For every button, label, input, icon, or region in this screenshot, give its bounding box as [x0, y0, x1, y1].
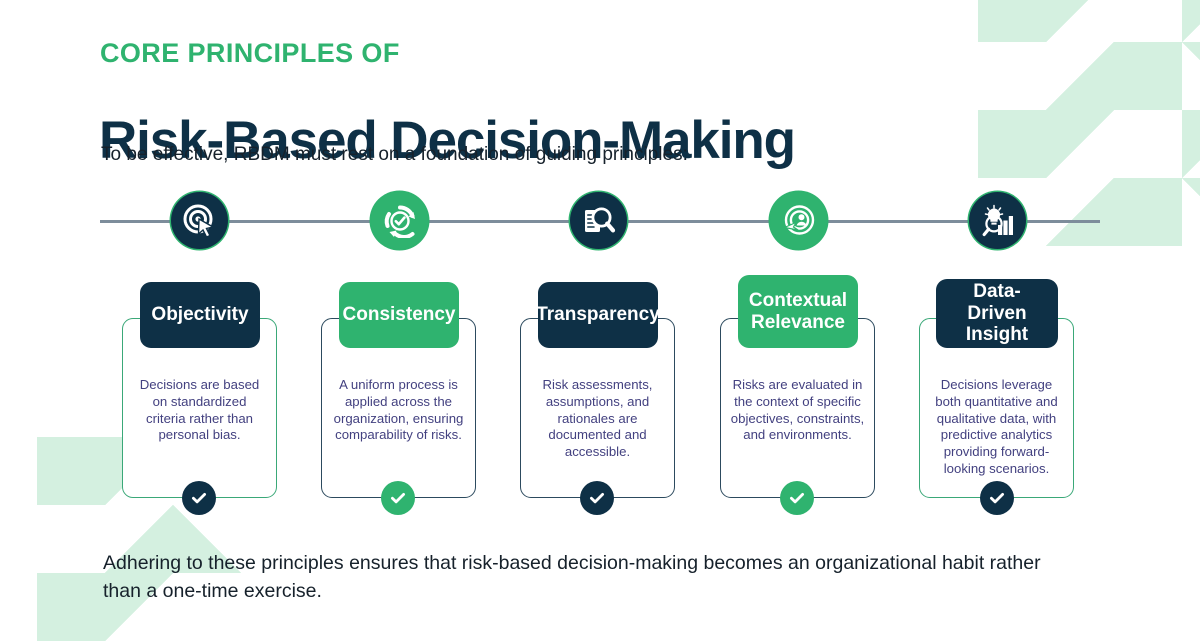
card-check-badge-contextual-relevance — [780, 481, 814, 515]
check-circle-icon — [788, 489, 806, 507]
card-title-badge-objectivity: Objectivity — [140, 282, 260, 348]
card-title-badge-transparency: Transparency — [538, 282, 658, 348]
document-magnifier-icon — [582, 204, 616, 238]
timeline-node-data-driven-insight[interactable] — [969, 192, 1026, 249]
subtitle-text: To be effective, RBDM must rest on a fou… — [101, 144, 688, 166]
timeline-node-objectivity[interactable] — [171, 192, 228, 249]
card-body-text: Risks are evaluated in the context of sp… — [721, 377, 874, 444]
target-arrow-person-icon — [782, 204, 816, 238]
card-check-badge-transparency — [580, 481, 614, 515]
card-title-badge-data-driven-insight: Data-Driven Insight — [936, 279, 1058, 348]
check-circle-icon — [389, 489, 407, 507]
target-cursor-icon — [183, 204, 217, 238]
footer-note: Adhering to these principles ensures tha… — [103, 549, 1083, 606]
eyebrow-label: CORE PRINCIPLES OF — [100, 38, 400, 69]
card-check-badge-consistency — [381, 481, 415, 515]
card-title-badge-consistency: Consistency — [339, 282, 459, 348]
check-circle-icon — [988, 489, 1006, 507]
card-check-badge-data-driven-insight — [980, 481, 1014, 515]
card-body-text: A uniform process is applied across the … — [322, 377, 475, 444]
timeline-node-contextual-relevance[interactable] — [770, 192, 827, 249]
check-circle-icon — [190, 489, 208, 507]
card-body-text: Decisions are based on standardized crit… — [123, 377, 276, 444]
card-check-badge-objectivity — [182, 481, 216, 515]
check-circle-icon — [588, 489, 606, 507]
timeline-node-transparency[interactable] — [570, 192, 627, 249]
lightbulb-magnifier-chart-icon — [981, 204, 1015, 238]
timeline-node-consistency[interactable] — [371, 192, 428, 249]
process-refresh-check-icon — [383, 204, 417, 238]
infographic-canvas: CORE PRINCIPLES OF Risk-Based Decision-M… — [0, 0, 1200, 630]
card-body-text: Decisions leverage both quantitative and… — [920, 377, 1073, 478]
card-title-badge-contextual-relevance: Contextual Relevance — [738, 275, 858, 348]
card-body-text: Risk assessments, assumptions, and ratio… — [521, 377, 674, 461]
